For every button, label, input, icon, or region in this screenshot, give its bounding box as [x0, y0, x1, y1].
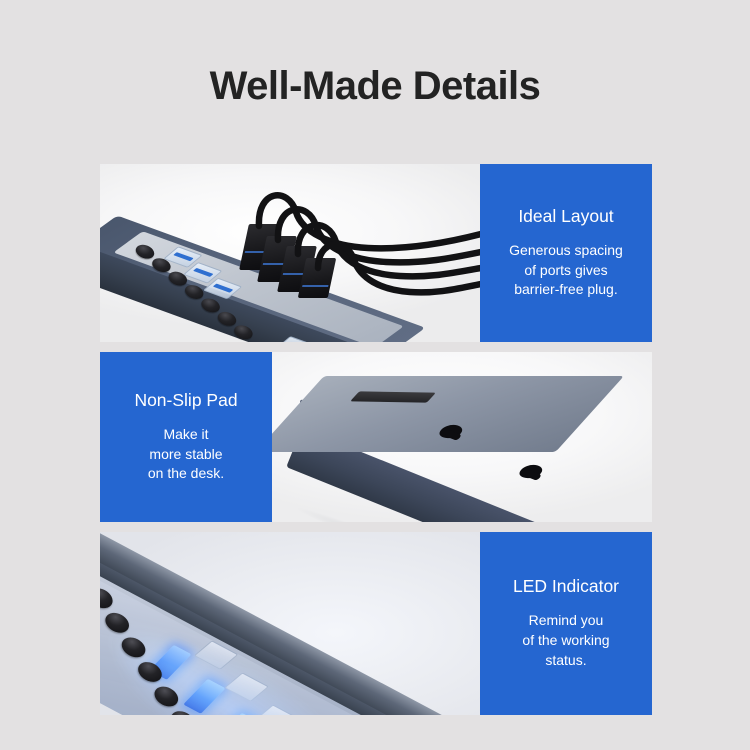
caption-body-line: of ports gives [509, 261, 623, 281]
hub-bottom-plate [272, 376, 624, 452]
caption-body-line: Generous spacing [509, 241, 623, 261]
caption-body-line: Remind you [522, 611, 609, 631]
caption-block-non-slip-pad: Non-Slip Pad Make it more stable on the … [100, 352, 272, 522]
page-title: Well-Made Details [0, 64, 750, 108]
caption-body-line: of the working [522, 631, 609, 651]
caption-block-ideal-layout: Ideal Layout Generous spacing of ports g… [480, 164, 652, 342]
feature-panel-led-indicator: LED Indicator Remind you of the working … [100, 532, 652, 715]
caption-body: Remind you of the working status. [522, 611, 609, 671]
feature-panel-non-slip-pad: Non-Slip Pad Make it more stable on the … [100, 352, 652, 522]
non-slip-strip [350, 391, 436, 402]
caption-title: Non-Slip Pad [134, 390, 237, 412]
caption-body: Generous spacing of ports gives barrier-… [509, 241, 623, 301]
usb-cables [100, 164, 480, 342]
caption-body-line: Make it [148, 425, 224, 445]
caption-body: Make it more stable on the desk. [148, 425, 224, 485]
caption-body-line: on the desk. [148, 464, 224, 484]
caption-title: LED Indicator [513, 576, 619, 598]
caption-body-line: status. [522, 651, 609, 671]
caption-title: Ideal Layout [518, 206, 613, 228]
caption-body-line: more stable [148, 445, 224, 465]
keyhole-mount-slot [516, 464, 545, 479]
feature-panel-ideal-layout: Ideal Layout Generous spacing of ports g… [100, 164, 652, 342]
product-photo-ideal-layout [100, 164, 480, 342]
caption-body-line: barrier-free plug. [509, 280, 623, 300]
caption-block-led-indicator: LED Indicator Remind you of the working … [480, 532, 652, 715]
product-photo-led-indicator [100, 532, 480, 715]
product-photo-non-slip-pad [272, 352, 652, 522]
usb-hub-underside [302, 372, 632, 512]
